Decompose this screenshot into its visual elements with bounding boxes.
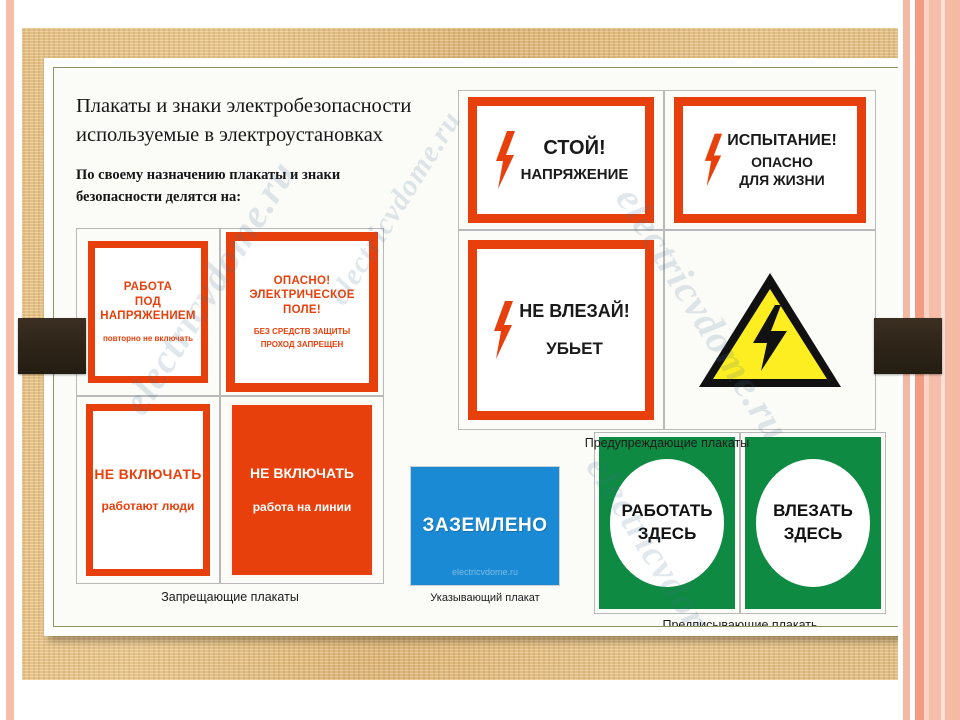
sign-line-main-2: ПОД НАПРЯЖЕНИЕМ: [95, 295, 201, 324]
sign-line-sub-1: НАПРЯЖЕНИЕ: [521, 167, 629, 184]
sign-line-sub-1: БЕЗ СРЕДСТВ ЗАЩИТЫ: [235, 327, 369, 337]
sign-content: СТОЙ! НАПРЯЖЕНИЕ: [494, 131, 629, 189]
sign-cell-zazemleno[interactable]: ЗАЗЕМЛЕНО electricvdome.ru: [410, 466, 560, 586]
sign-line-main-1: НЕ ВЛЕЗАЙ!: [519, 302, 629, 322]
sign-line-main-2: ЗДЕСЬ: [638, 523, 697, 546]
page-subtitle-line-1: По своему назначению плакаты и знаки: [76, 164, 436, 186]
sign-content: ИСПЫТАНИЕ! ОПАСНО ДЛЯ ЖИЗНИ: [703, 132, 837, 188]
sign-cell-ispytanie-opasno-dlya-zhizni[interactable]: ИСПЫТАНИЕ! ОПАСНО ДЛЯ ЖИЗНИ: [664, 90, 876, 230]
sign-rabota-pod-napryazheniem: РАБОТА ПОД НАПРЯЖЕНИЕМ повторно не включ…: [88, 241, 208, 383]
caption-indicating: Указывающий плакат: [400, 592, 570, 604]
sign-line-main-1: РАБОТАТЬ: [622, 500, 713, 523]
strap-clasp-right: [874, 318, 942, 374]
sign-watermark: electricvdome.ru: [411, 567, 559, 577]
slide-inner-bordered-area: electricvdome.ru electricvdome.ru electr…: [53, 67, 901, 627]
sign-line-sub-1: работа на линии: [250, 500, 354, 516]
sign-line-sub-1: повторно не включать: [95, 334, 201, 344]
sign-cell-rabotat-zdes[interactable]: РАБОТАТЬ ЗДЕСЬ: [594, 432, 740, 614]
warning-triangle-icon: [695, 267, 845, 393]
sign-cell-triangle-hazard[interactable]: [664, 230, 876, 430]
sign-cell-vlezat-zdes[interactable]: ВЛЕЗАТЬ ЗДЕСЬ: [740, 432, 886, 614]
sign-line-sub-1: УБЬЕТ: [519, 340, 629, 359]
sign-text-block: НЕ ВЛЕЗАЙ! УБЬЕТ: [519, 302, 629, 358]
sign-line-sub-1: ОПАСНО: [727, 155, 837, 170]
sign-cell-ne-vklyuchat-rabotayut-lyudi[interactable]: НЕ ВКЛЮЧАТЬ работают люди: [76, 396, 220, 584]
caption-prohibiting: Запрещающие плакаты: [76, 590, 384, 604]
sign-ne-vklyuchat-rabota-na-linii: НЕ ВКЛЮЧАТЬ работа на линии: [229, 402, 375, 578]
sign-ispytanie-opasno-dlya-zhizni: ИСПЫТАНИЕ! ОПАСНО ДЛЯ ЖИЗНИ: [674, 97, 866, 223]
slide-panel: electricvdome.ru electricvdome.ru electr…: [44, 58, 910, 636]
sign-line-main-2: ЗДЕСЬ: [784, 523, 843, 546]
caption-prescriptive: Предписывающие плакать: [594, 618, 886, 627]
sign-line-main-1: НЕ ВКЛЮЧАТЬ: [250, 464, 354, 482]
sign-line-main-1: СТОЙ!: [521, 137, 629, 159]
sign-line-main-1: ЗАЗЕМЛЕНО: [422, 515, 547, 537]
strap-clasp-left: [18, 318, 86, 374]
sign-line-main-1: НЕ ВКЛЮЧАТЬ: [94, 466, 201, 484]
lightning-bolt-icon: [703, 132, 723, 188]
sign-zazemleno: ЗАЗЕМЛЕНО electricvdome.ru: [410, 466, 560, 586]
sign-cell-rabota-pod-napryazheniem[interactable]: РАБОТА ПОД НАПРЯЖЕНИЕМ повторно не включ…: [76, 228, 220, 396]
sign-text-ellipse: ВЛЕЗАТЬ ЗДЕСЬ: [756, 459, 870, 586]
sign-line-main-1: ВЛЕЗАТЬ: [773, 500, 853, 523]
page-title-line-2: используемые в электроустановках: [76, 121, 468, 150]
page-title: Плакаты и знаки электробезопасности испо…: [76, 92, 468, 150]
sign-vlezat-zdes: ВЛЕЗАТЬ ЗДЕСЬ: [745, 437, 881, 609]
sign-content: НЕ ВЛЕЗАЙ! УБЬЕТ: [492, 300, 629, 360]
sign-line-main-1: РАБОТА: [95, 280, 201, 294]
sign-line-main-2: ЭЛЕКТРИЧЕСКОЕ ПОЛЕ!: [235, 288, 369, 317]
page-subtitle-line-2: безопасности делятся на:: [76, 186, 436, 208]
sign-text-block: ОПАСНО! ЭЛЕКТРИЧЕСКОЕ ПОЛЕ! БЕЗ СРЕДСТВ …: [235, 274, 369, 350]
sign-cell-ne-vlezay-ubyet[interactable]: НЕ ВЛЕЗАЙ! УБЬЕТ: [458, 230, 664, 430]
sign-opasno-elektricheskoe-pole: ОПАСНО! ЭЛЕКТРИЧЕСКОЕ ПОЛЕ! БЕЗ СРЕДСТВ …: [226, 232, 378, 392]
sign-ne-vklyuchat-rabotayut-lyudi: НЕ ВКЛЮЧАТЬ работают люди: [86, 404, 210, 576]
sign-text-block: СТОЙ! НАПРЯЖЕНИЕ: [521, 137, 629, 184]
sign-rabotat-zdes: РАБОТАТЬ ЗДЕСЬ: [599, 437, 735, 609]
sign-line-sub-2: ДЛЯ ЖИЗНИ: [727, 173, 837, 188]
sign-line-sub-1: работают люди: [94, 499, 201, 514]
sign-cell-ne-vklyuchat-rabota-na-linii[interactable]: НЕ ВКЛЮЧАТЬ работа на линии: [220, 396, 384, 584]
sign-text-block: НЕ ВКЛЮЧАТЬ работа на линии: [250, 464, 354, 516]
sign-line-main-1: ИСПЫТАНИЕ!: [727, 132, 837, 150]
sign-text-ellipse: РАБОТАТЬ ЗДЕСЬ: [610, 459, 724, 586]
lightning-bolt-icon: [492, 300, 514, 360]
sign-text-block: РАБОТА ПОД НАПРЯЖЕНИЕМ повторно не включ…: [95, 280, 201, 343]
sign-line-main-1: ОПАСНО!: [235, 274, 369, 288]
sign-cell-opasno-elektricheskoe-pole[interactable]: ОПАСНО! ЭЛЕКТРИЧЕСКОЕ ПОЛЕ! БЕЗ СРЕДСТВ …: [220, 228, 384, 396]
page-subtitle: По своему назначению плакаты и знаки без…: [76, 164, 436, 209]
sign-ne-vlezay-ubyet: НЕ ВЛЕЗАЙ! УБЬЕТ: [468, 240, 654, 420]
lightning-bolt-icon: [494, 131, 516, 189]
sign-text-block: ИСПЫТАНИЕ! ОПАСНО ДЛЯ ЖИЗНИ: [727, 132, 837, 188]
page-title-line-1: Плакаты и знаки электробезопасности: [76, 92, 468, 121]
sign-text-block: НЕ ВКЛЮЧАТЬ работают люди: [94, 466, 201, 515]
sign-line-sub-2: ПРОХОД ЗАПРЕЩЕН: [235, 340, 369, 350]
caption-warning: Предупреждающие плакаты: [458, 436, 876, 450]
sign-stoy-napryazhenie: СТОЙ! НАПРЯЖЕНИЕ: [468, 97, 654, 223]
sign-cell-stoy-napryazhenie[interactable]: СТОЙ! НАПРЯЖЕНИЕ: [458, 90, 664, 230]
